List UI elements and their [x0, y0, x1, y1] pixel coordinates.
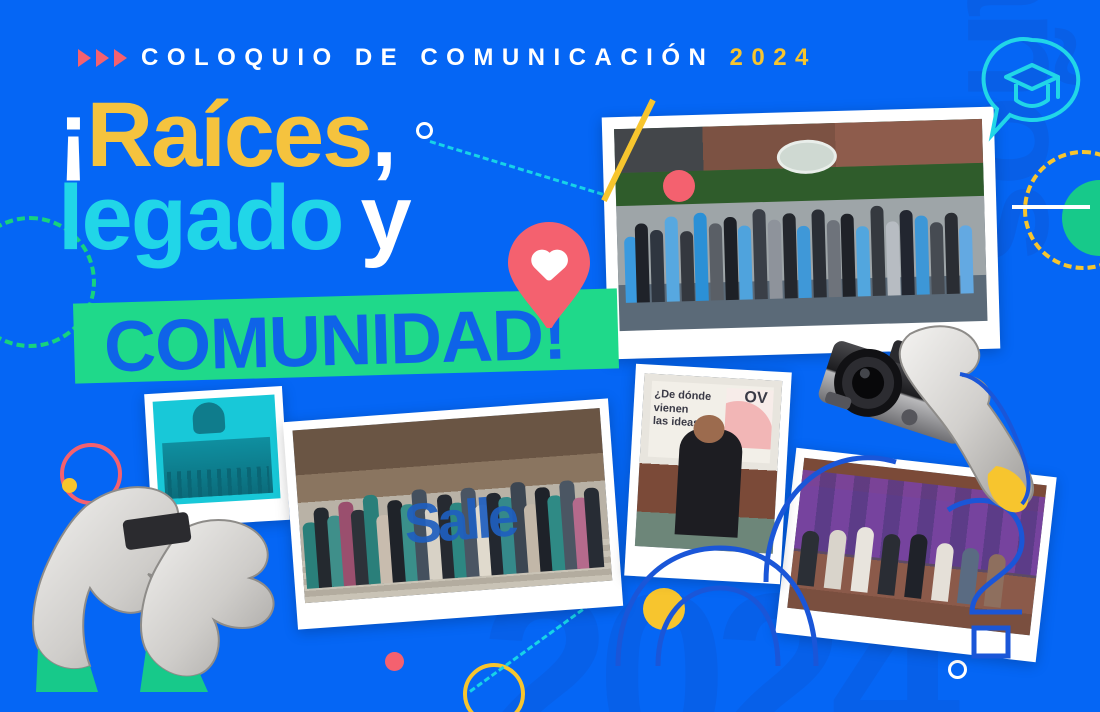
line-white-decoration [1012, 205, 1090, 209]
ring-cyan-tiny-decoration [416, 122, 433, 139]
graduation-cap-speech-bubble-icon [978, 34, 1086, 144]
headline-word-comunidad: COMUNIDAD! [103, 294, 567, 389]
heart-map-pin-icon [508, 222, 590, 328]
triangle-play-icon [78, 49, 127, 67]
photo-crowd-figures [616, 184, 987, 303]
headline-connector-y: y [360, 167, 409, 269]
outline-circle-yellow-decoration [463, 663, 525, 712]
headline-line-1: ¡Raíces, [58, 96, 410, 175]
photo-card-group-salle[interactable]: Salle [283, 398, 623, 629]
hands-holding-camera-icon [28, 452, 318, 692]
photo-image-speaker-mic: ¿De dónde vienen las ideas? OV [635, 373, 782, 553]
eyebrow-year: 2024 [730, 44, 817, 71]
ring-white-small-decoration [948, 660, 967, 679]
photo-overlay-letters-salle: Salle [402, 484, 517, 557]
photo-image-group-clock [614, 119, 987, 331]
photo-card-speaker-mic[interactable]: ¿De dónde vienen las ideas? OV [624, 364, 792, 584]
dashed-circle-yellow-decoration [1023, 150, 1100, 270]
eyebrow-title: COLOQUIO DE COMUNICACIÓN 2024 [141, 44, 817, 72]
headline-line-2: legadoy [58, 179, 410, 258]
solid-circle-green-decoration [1062, 180, 1100, 256]
eyebrow-banner: COLOQUIO DE COMUNICACIÓN 2024 [78, 44, 817, 72]
headline-block: ¡Raíces, legadoy [58, 96, 410, 258]
headline-word-legado: legado [58, 167, 342, 269]
vintage-camera-icon [800, 316, 1050, 531]
photo-slide-badge: OV [744, 389, 768, 408]
photo-image-group-salle: Salle [292, 408, 612, 603]
poster-canvas: años 2024 COLOQUIO DE COMUNICACIÓN 2024 … [0, 0, 1100, 712]
dashed-line-cyan-top [430, 140, 613, 198]
eyebrow-title-text: COLOQUIO DE COMUNICACIÓN [141, 44, 714, 71]
dot-yellow-large-decoration [643, 588, 685, 630]
dot-pink-decoration [385, 652, 404, 671]
